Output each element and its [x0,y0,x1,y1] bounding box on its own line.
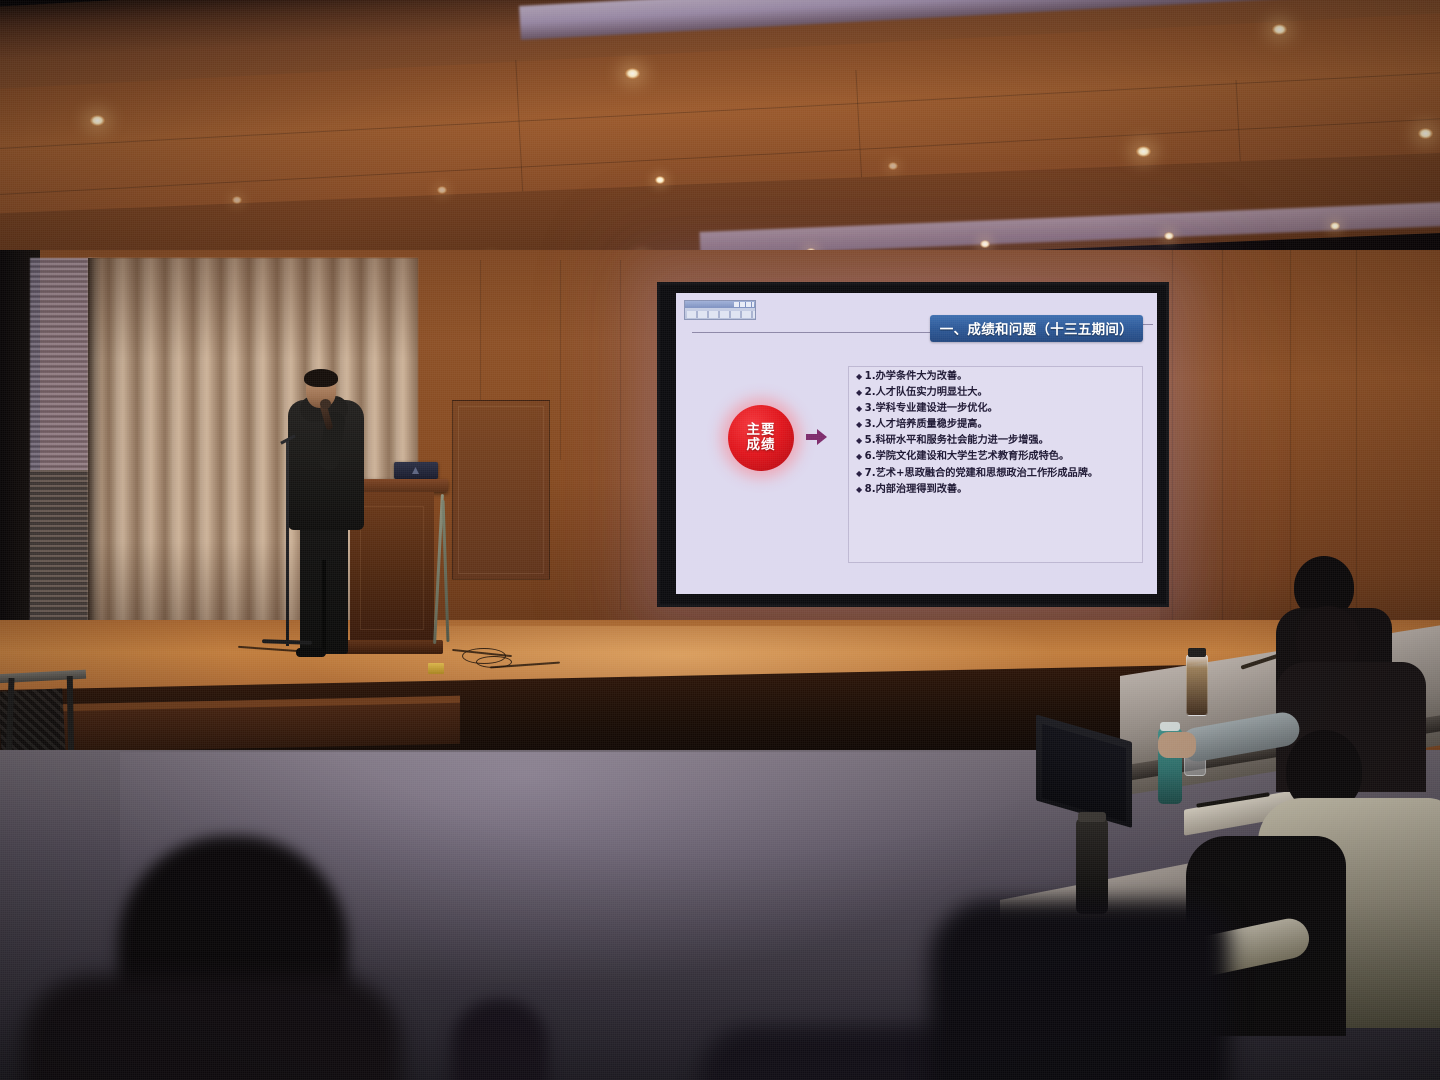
toolbar-title-bar [685,301,755,308]
auditorium-scene: 一、成绩和问题（十三五期间） 主要 成绩 ◆1.办学条件大为改善。 ◆2.人才队… [0,0,1440,1080]
diamond-bullet-icon: ◆ [856,451,862,463]
yellow-floor-box [428,663,444,674]
slide-title: 一、成绩和问题（十三五期间） [930,315,1143,342]
foreground-person-shoulders [22,976,402,1080]
downlight-icon [1330,222,1340,230]
bullet-list: ◆1.办学条件大为改善。 ◆2.人才队伍实力明显壮大。 ◆3.学科专业建设进一步… [856,371,1138,500]
speaker-shoe [296,648,326,657]
projection-screen: 一、成绩和问题（十三五期间） 主要 成绩 ◆1.办学条件大为改善。 ◆2.人才队… [676,293,1157,594]
list-item: ◆8.内部治理得到改善。 [856,484,1138,496]
downlight-icon [437,186,447,194]
audience-person-arm [1180,702,1300,772]
list-item: ◆3.人才培养质量稳步提高。 [856,419,1138,431]
list-item-label: 6.学院文化建设和大学生艺术教育形成特色。 [865,451,1070,463]
downlight-icon [1272,24,1287,35]
list-item: ◆1.办学条件大为改善。 [856,371,1138,383]
list-item: ◆7.艺术+思政融合的党建和思想政治工作形成品牌。 [856,468,1138,480]
diamond-bullet-icon: ◆ [856,468,862,480]
list-item-label: 2.人才队伍实力明显壮大。 [865,387,988,399]
downlight-icon [232,196,242,204]
list-item: ◆3.学科专业建设进一步优化。 [856,403,1138,415]
list-item-label: 5.科研水平和服务社会能力进一步增强。 [865,435,1049,447]
list-item: ◆6.学院文化建设和大学生艺术教育形成特色。 [856,451,1138,463]
diamond-bullet-icon: ◆ [856,419,862,431]
foreground-person-silhouette [930,900,1230,1080]
downlight-icon [1164,232,1174,240]
wall-plank-seam [1222,250,1223,670]
speaker-hair [304,369,338,387]
side-door-panel [458,406,544,574]
badge-line-1: 主要 [747,423,776,438]
diamond-bullet-icon: ◆ [856,387,862,399]
diamond-bullet-icon: ◆ [856,435,862,447]
wall-plank-seam [1172,250,1173,670]
dark-thermos-cap [1078,812,1106,822]
downlight-icon [90,115,105,126]
downlight-icon [655,176,665,184]
floating-toolbar-overlay[interactable] [684,300,756,320]
wall-plank-seam [560,260,561,460]
audience-person-hand [1158,732,1196,758]
list-item: ◆5.科研水平和服务社会能力进一步增强。 [856,435,1138,447]
main-achievements-badge: 主要 成绩 [728,405,794,471]
podium-base [341,640,443,654]
presentation-slide: 一、成绩和问题（十三五期间） 主要 成绩 ◆1.办学条件大为改善。 ◆2.人才队… [676,293,1157,594]
podium-front-panel [360,506,424,630]
diamond-bullet-icon: ◆ [856,484,862,496]
window-buttons-icon[interactable] [734,302,754,307]
list-item-label: 3.学科专业建设进一步优化。 [865,403,998,415]
glass-tea-bottle-cap [1188,648,1206,657]
downlight-icon [888,162,898,170]
list-item-label: 1.办学条件大为改善。 [865,371,968,383]
wall-plank-seam [620,260,621,610]
list-item-label: 3.人才培养质量稳步提高。 [865,419,988,431]
list-item-label: 8.内部治理得到改善。 [865,484,968,496]
list-item-label: 7.艺术+思政融合的党建和思想政治工作形成品牌。 [865,468,1098,480]
downlight-icon [980,240,990,248]
diamond-bullet-icon: ◆ [856,403,862,415]
audience-person-sleeve [1178,710,1302,764]
microphone-head-icon [320,399,331,409]
microphone-stand [286,440,289,646]
speaker-leg-gap [322,560,326,654]
stage-curtain-edge [88,258,102,663]
toolbar-controls-row[interactable] [687,311,755,318]
downlight-icon [625,68,640,79]
list-item: ◆2.人才队伍实力明显壮大。 [856,387,1138,399]
downlight-icon [1136,146,1151,157]
teal-thermos-cap [1160,722,1180,731]
downlight-icon [1418,128,1433,139]
foreground-object-silhouette [452,1000,548,1080]
diamond-bullet-icon: ◆ [856,371,862,383]
badge-line-2: 成绩 [747,438,776,453]
